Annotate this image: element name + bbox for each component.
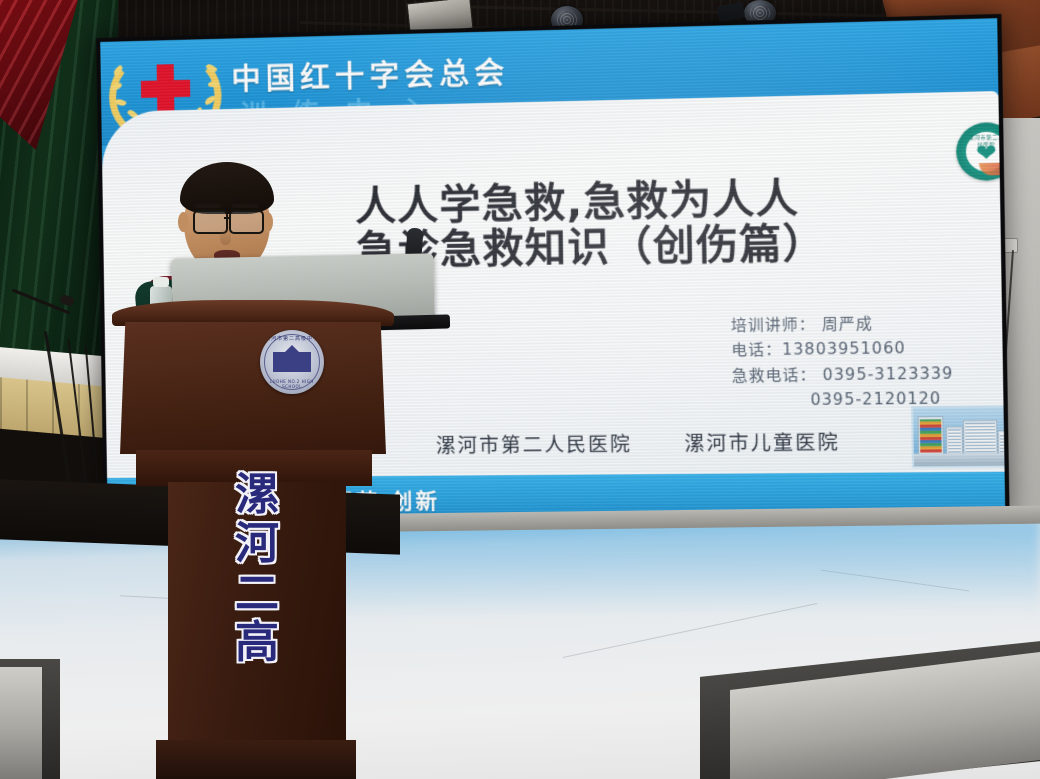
crest-building-icon (273, 352, 311, 372)
heart-icon: ❤ (976, 140, 997, 164)
instructor-line: 培训讲师： 周严成 (731, 310, 953, 338)
phone-line: 电话：13803951060 (731, 335, 953, 363)
red-cross-horizontal (141, 80, 190, 98)
speaker-podium: 漯河市第二高级中学 LUOHE NO.2 HIGH SCHOOL 漯 河 二 高 (108, 300, 398, 779)
sign-char: 河 (226, 519, 288, 568)
sign-char: 漯 (226, 470, 288, 519)
sign-char: 二 (226, 569, 288, 618)
hospital-names: 漯河市第二人民医院 漯河市儿童医院 (436, 427, 841, 458)
eyeglasses-lens-right (229, 210, 264, 234)
presenter-nose (220, 228, 231, 245)
eyeglasses-bridge (224, 217, 231, 219)
presenter-eyebrow (195, 204, 221, 208)
title-line-1: 人人学急救,急救为人人 (355, 176, 921, 228)
hospital-building-photo (911, 405, 1005, 468)
podium-school-sign: 漯 河 二 高 (226, 470, 288, 667)
crest-top-text: 漯河市第二高级中学 (260, 335, 324, 342)
emblem-ring: 漯河市第二人民医院 ❤ (961, 127, 1005, 176)
instructor-info: 培训讲师： 周严成 电话：13803951060 急救电话： 0395-3123… (731, 310, 954, 413)
stage-riser (0, 667, 42, 779)
podium-front-panel: 漯河市第二高级中学 LUOHE NO.2 HIGH SCHOOL (120, 322, 386, 454)
slide-title: 人人学急救,急救为人人 急诊急救知识（创伤篇） (355, 176, 922, 273)
lecture-hall-scene: 中国红十字会总会 训练中心 漯河市第二人民医院 ❤ 人人学急救,急救为人人 急诊… (0, 0, 1040, 779)
sign-char: 高 (226, 618, 288, 667)
bottle-cap (153, 277, 169, 287)
presenter-eyebrow (232, 204, 258, 208)
building (946, 426, 964, 455)
presenter-ear (178, 212, 189, 232)
title-line-2: 急诊急救知识（创伤篇） (356, 220, 922, 273)
photo-foreground (914, 453, 1005, 466)
screen-reflection (330, 520, 1040, 615)
hospital-name-primary: 漯河市第二人民医院 (436, 433, 632, 457)
crest-bottom-text: LUOHE NO.2 HIGH SCHOOL (260, 379, 324, 389)
school-crest: 漯河市第二高级中学 LUOHE NO.2 HIGH SCHOOL (260, 330, 324, 394)
building (963, 420, 998, 456)
building (918, 416, 944, 456)
podium-base (156, 740, 356, 779)
building (997, 430, 1005, 455)
emergency-phone-line: 急救电话： 0395-3123339 (732, 361, 954, 389)
hospital-name-secondary: 漯河市儿童医院 (684, 432, 840, 456)
